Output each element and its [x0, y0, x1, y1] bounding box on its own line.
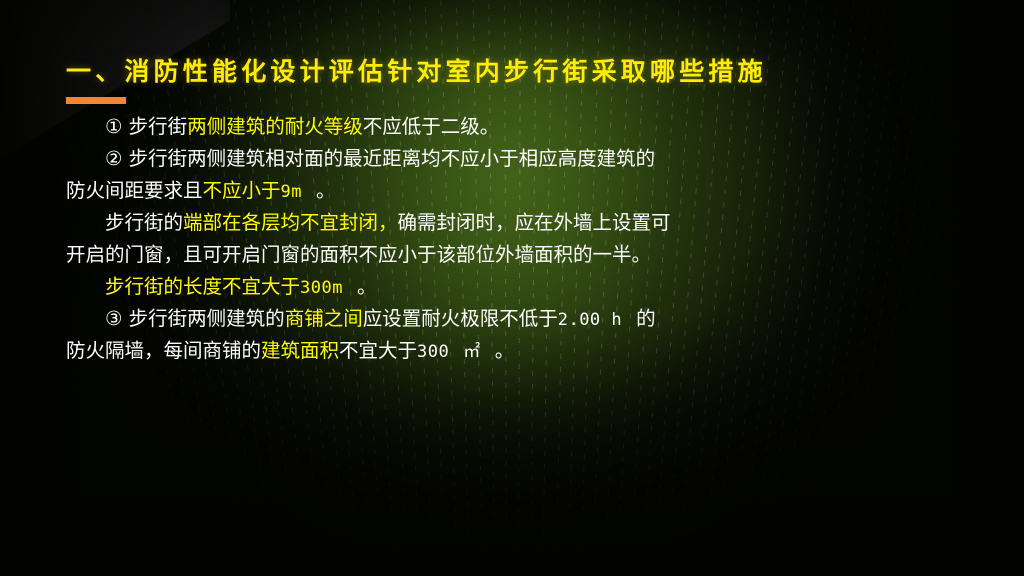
text-run: 不宜大于: [339, 339, 417, 362]
text-run: 。: [495, 339, 515, 362]
text-run: 。: [357, 275, 377, 298]
text-run: 步行街的: [105, 211, 183, 234]
title-accent-bar: [66, 97, 126, 104]
body-line: ② 步行街两侧建筑相对面的最近距离均不应小于相应高度建筑的: [0, 143, 1024, 175]
body-line: ① 步行街两侧建筑的耐火等级不应低于二级。: [0, 111, 1024, 143]
highlighted-text-run: 商铺之间: [285, 307, 363, 330]
highlighted-text-run: 不应小于: [203, 179, 281, 202]
text-run: ③ 步行街两侧建筑的: [105, 307, 285, 330]
highlighted-text-run: 步行街的长度不宜大于: [105, 275, 300, 298]
body-line: ③ 步行街两侧建筑的商铺之间应设置耐火极限不低于2.00 h的: [0, 303, 1024, 335]
highlighted-text-run: 端部在各层均不宜封闭，: [183, 211, 398, 234]
text-run: 2.00 h: [558, 310, 622, 330]
text-run: ㎡: [463, 342, 481, 362]
body-line: 步行街的长度不宜大于300m。: [0, 271, 1024, 303]
text-run: ① 步行街: [105, 115, 187, 138]
text-run: 开启的门窗，且可开启门窗的面积不应小于该部位外墙面积的一半。: [66, 243, 651, 266]
text-run: ② 步行街两侧建筑相对面的最近距离均不应小于相应高度建筑的: [105, 147, 655, 170]
body-text-block: ① 步行街两侧建筑的耐火等级不应低于二级。② 步行街两侧建筑相对面的最近距离均不…: [0, 111, 1024, 367]
text-run: 。: [316, 179, 336, 202]
highlighted-text-run: 300m: [300, 278, 343, 298]
text-run: 防火间距要求且: [66, 179, 203, 202]
text-run: 不应低于二级。: [363, 115, 500, 138]
highlighted-text-run: 建筑面积: [261, 339, 339, 362]
text-run: 300: [417, 342, 449, 362]
slide-title: 一、消防性能化设计评估针对室内步行街采取哪些措施: [66, 52, 767, 88]
text-run: 的: [636, 307, 656, 330]
body-line: 步行街的端部在各层均不宜封闭，确需封闭时，应在外墙上设置可: [0, 207, 1024, 239]
body-line: 防火隔墙，每间商铺的建筑面积不宜大于300㎡。: [0, 335, 1024, 367]
highlighted-text-run: 9m: [281, 182, 302, 202]
body-line: 开启的门窗，且可开启门窗的面积不应小于该部位外墙面积的一半。: [0, 239, 1024, 271]
text-run: 防火隔墙，每间商铺的: [66, 339, 261, 362]
body-line: 防火间距要求且不应小于9m。: [0, 175, 1024, 207]
text-run: 确需封闭时，应在外墙上设置可: [398, 211, 671, 234]
highlighted-text-run: 两侧建筑的耐火等级: [187, 115, 363, 138]
text-run: 应设置耐火极限不低于: [363, 307, 558, 330]
slide-canvas: 一、消防性能化设计评估针对室内步行街采取哪些措施 ① 步行街两侧建筑的耐火等级不…: [0, 0, 1024, 576]
slide-content: 一、消防性能化设计评估针对室内步行街采取哪些措施 ① 步行街两侧建筑的耐火等级不…: [0, 0, 1024, 576]
